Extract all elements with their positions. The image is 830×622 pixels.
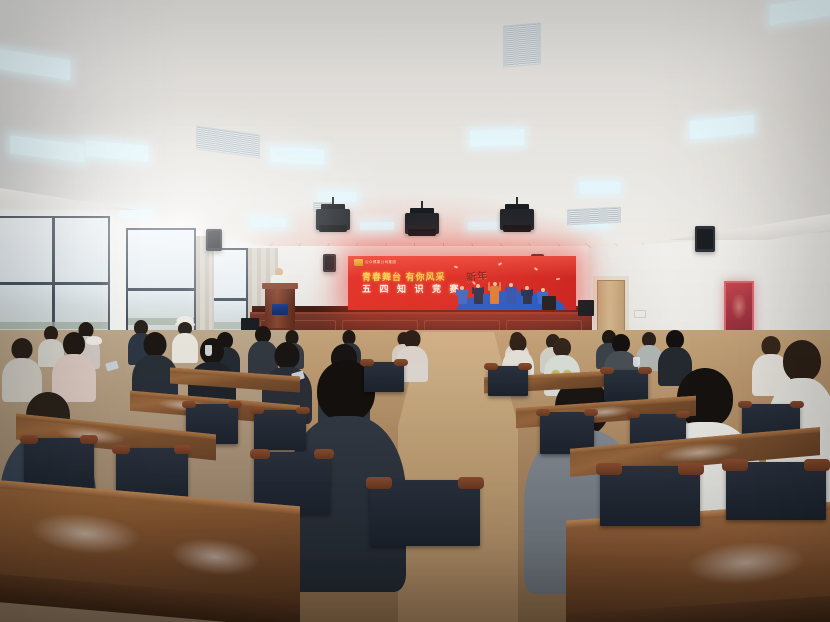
ceiling-panel-light bbox=[470, 129, 524, 147]
audience-member bbox=[2, 338, 42, 400]
audience-member bbox=[82, 336, 106, 362]
chair-foreground-far-right bbox=[726, 462, 826, 520]
chair bbox=[254, 410, 306, 450]
white-cap-icon bbox=[86, 336, 102, 345]
stage-monitor-center bbox=[542, 296, 556, 310]
led-performer-figure bbox=[505, 283, 517, 308]
water-cup bbox=[633, 357, 640, 367]
led-logo-text: 公众健康公司集团 bbox=[365, 260, 396, 265]
podium bbox=[265, 286, 295, 328]
stage-light-fixture bbox=[405, 208, 439, 236]
stage-light-fixture bbox=[500, 204, 534, 232]
water-cup bbox=[205, 345, 212, 356]
wall-speaker-left-1 bbox=[206, 229, 222, 251]
ceiling-panel-light bbox=[580, 182, 620, 193]
ceiling-panel-light bbox=[468, 222, 502, 230]
wall-speaker-left-2 bbox=[323, 254, 336, 272]
wall-speaker-right-2 bbox=[695, 226, 715, 252]
chair-foreground-right bbox=[600, 466, 700, 526]
chair bbox=[364, 362, 404, 392]
chair bbox=[488, 366, 528, 396]
ceiling-air-vent bbox=[503, 22, 541, 67]
window-curtain-mid bbox=[196, 236, 214, 340]
led-performer-figure bbox=[456, 286, 468, 308]
chair-foreground-mid bbox=[370, 480, 480, 546]
led-corner-logo: 公众健康公司集团 bbox=[354, 259, 396, 266]
ceiling-panel-light bbox=[250, 218, 286, 227]
podium-emblem bbox=[272, 304, 288, 315]
ceiling-air-vent bbox=[567, 207, 621, 226]
led-logo-mark bbox=[354, 259, 363, 266]
led-performer-figure bbox=[521, 286, 533, 308]
ceiling-panel-light bbox=[318, 192, 356, 202]
ceiling-panel-light bbox=[360, 222, 394, 230]
ceiling-panel-light bbox=[120, 210, 152, 218]
stage-monitor-right bbox=[578, 300, 594, 316]
stage-light-fixture bbox=[316, 204, 350, 232]
chair bbox=[604, 370, 648, 402]
led-decorative-text: 新年 bbox=[465, 267, 488, 284]
led-headline-line1: 青春舞台 有你风采 bbox=[362, 272, 462, 283]
podium-top bbox=[262, 283, 298, 289]
conference-hall-photo: 公众健康公司集团 青春舞台 有你风采 五 四 知 识 竞 赛 新年 bbox=[0, 0, 830, 622]
wall-switch-plate bbox=[634, 310, 646, 318]
ceiling-panel-light bbox=[270, 147, 324, 165]
confetti-icon bbox=[556, 278, 560, 281]
led-performer-figure bbox=[488, 282, 501, 308]
led-performer-figure bbox=[472, 284, 484, 308]
